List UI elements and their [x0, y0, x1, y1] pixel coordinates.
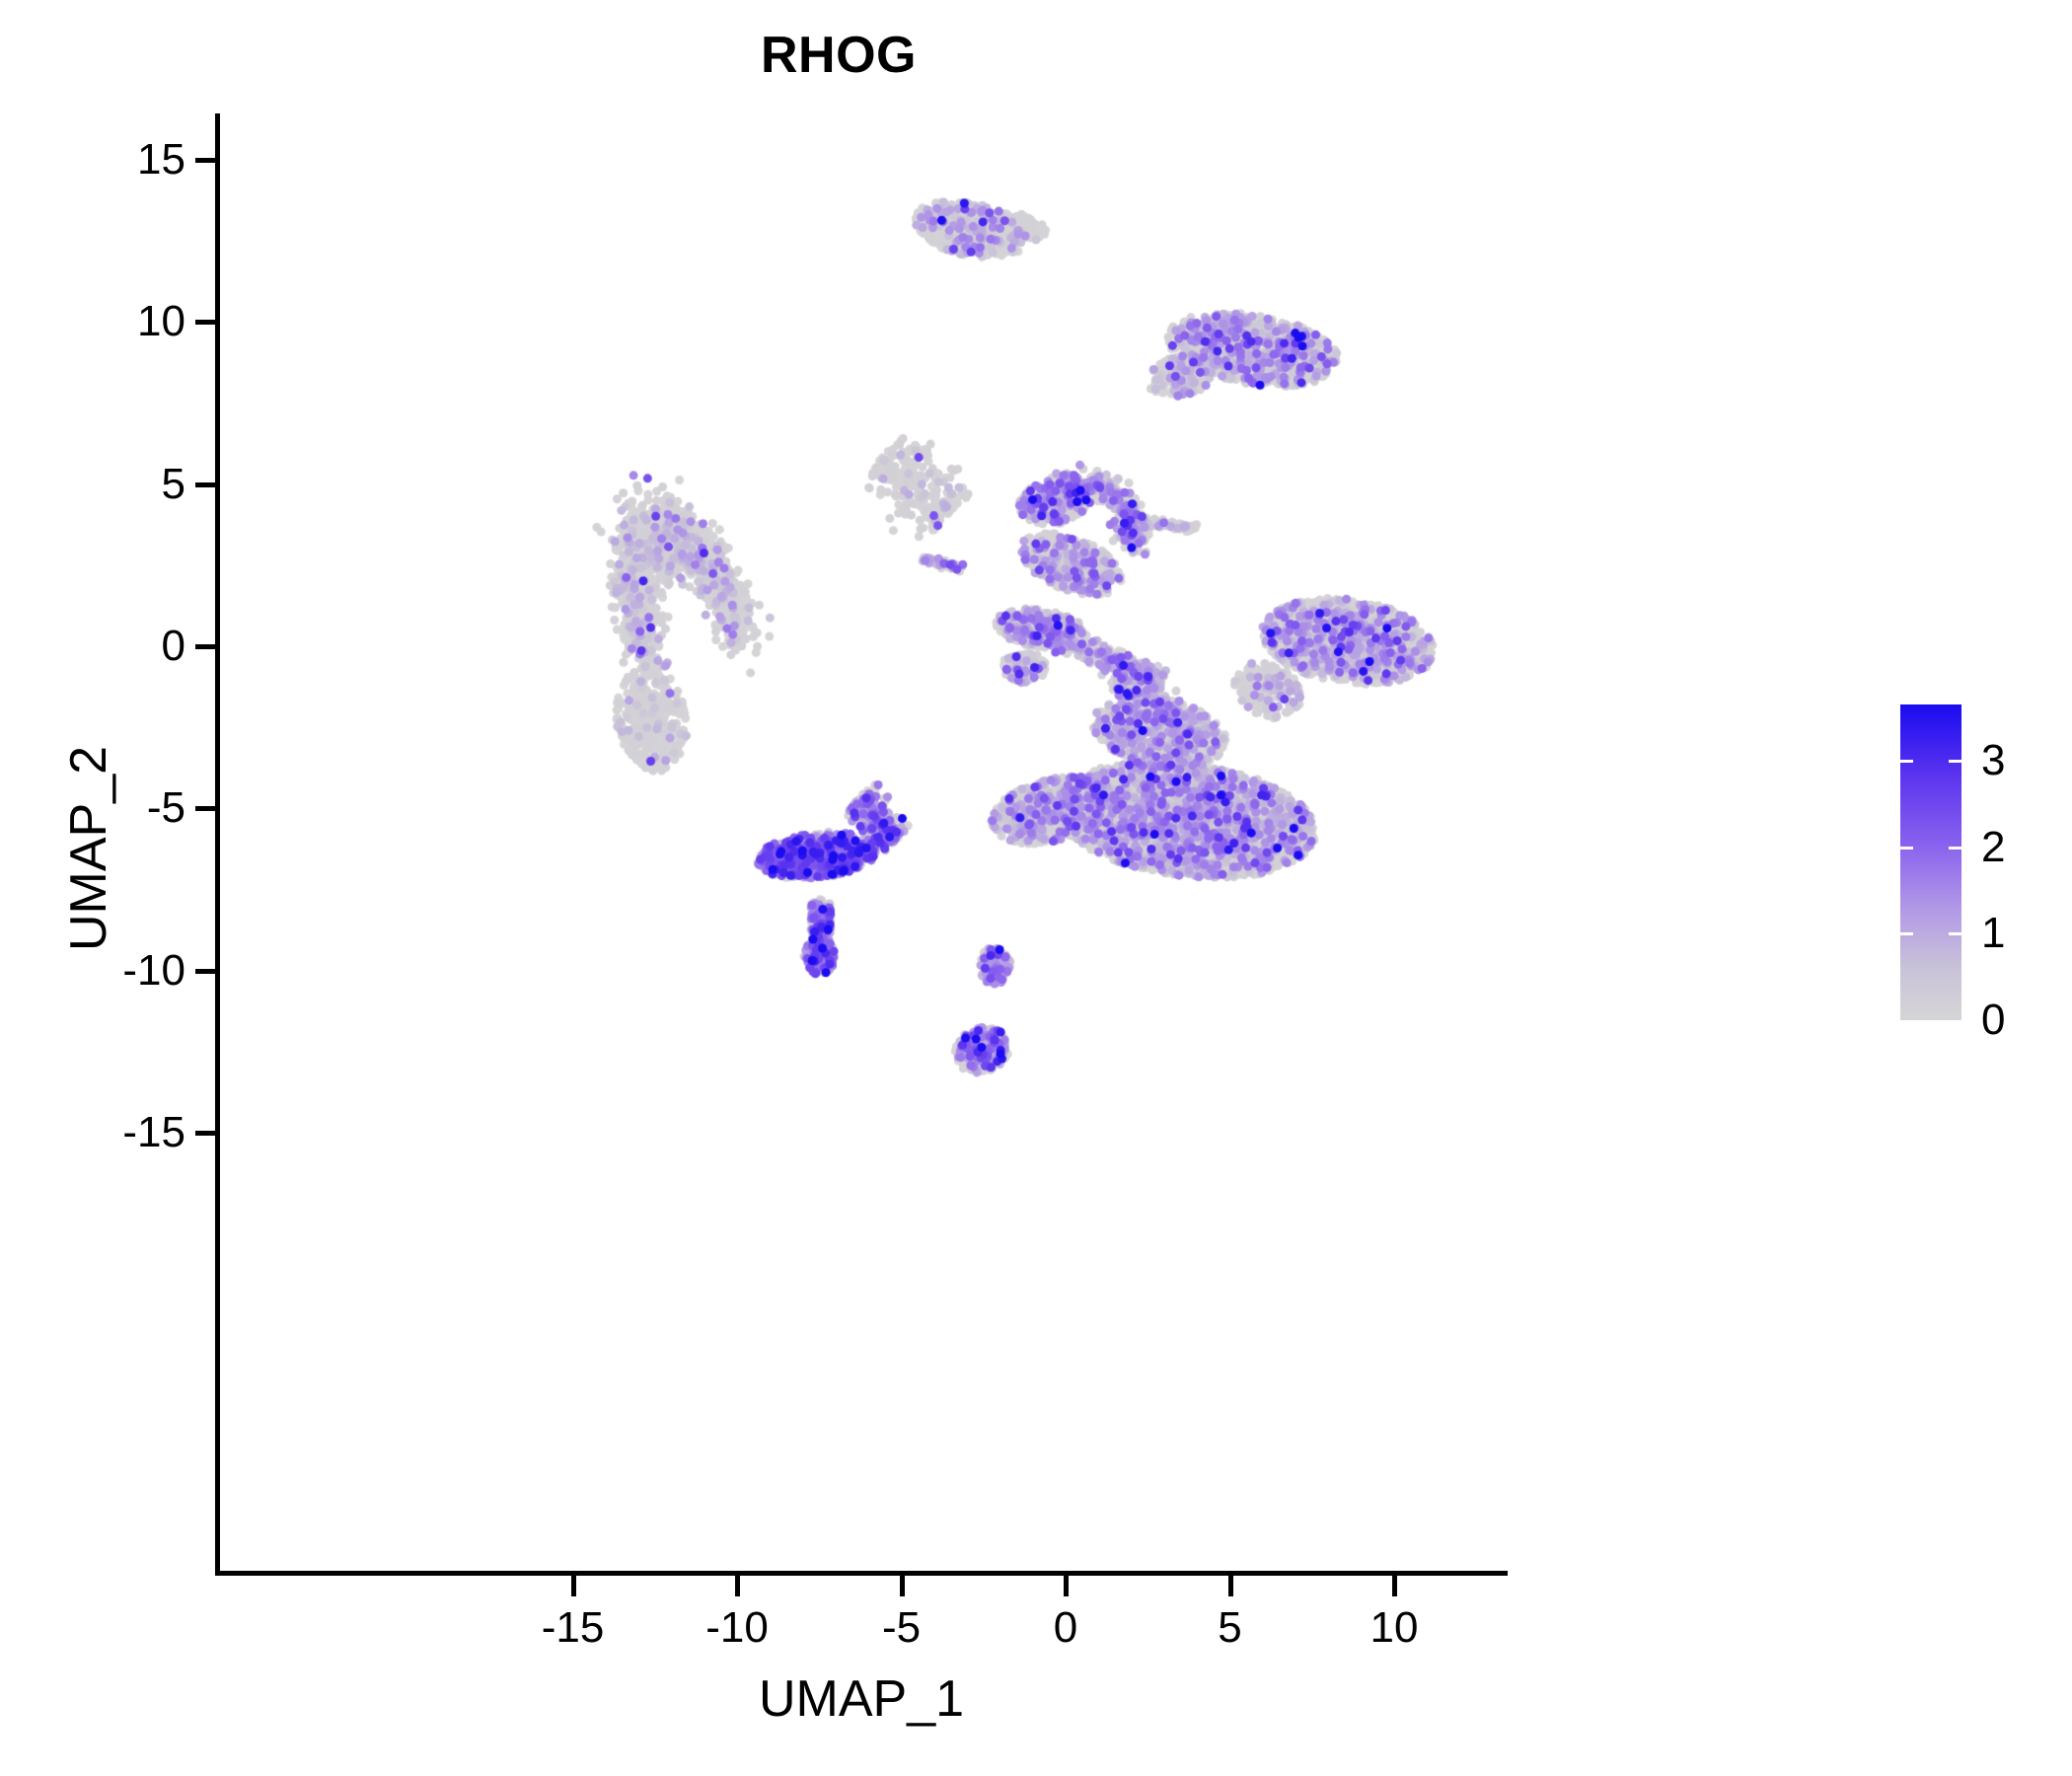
x-axis-label: UMAP_1: [215, 1669, 1508, 1729]
y-tick-mark: [195, 482, 216, 487]
page-title: RHOG: [0, 26, 1677, 85]
y-tick-label: 0: [162, 622, 185, 671]
y-tick-mark: [195, 969, 216, 974]
x-axis-line: [215, 1571, 1508, 1576]
y-axis-line: [215, 113, 220, 1574]
colorbar-tick-mark: [1949, 847, 1961, 850]
colorbar-tick-label: 3: [1981, 736, 2005, 785]
y-tick-mark: [195, 806, 216, 811]
umap-feature-plot: RHOG -15-10-5051015 -15-10-50510 UMAP_1 …: [0, 0, 2072, 1776]
x-tick-label: 5: [1218, 1603, 1241, 1653]
x-tick-mark: [1228, 1576, 1233, 1596]
y-tick-mark: [195, 1131, 216, 1136]
x-tick-label: -5: [882, 1603, 921, 1653]
y-tick-label: -5: [147, 783, 185, 833]
x-tick-label: 10: [1370, 1603, 1419, 1653]
x-tick-mark: [735, 1576, 740, 1596]
colorbar-tick-mark: [1949, 932, 1961, 935]
colorbar-tick-mark: [1900, 932, 1913, 935]
x-tick-label: 0: [1054, 1603, 1077, 1653]
y-tick-mark: [195, 320, 216, 325]
colorbar-legend: 0123: [1900, 704, 1961, 1020]
y-tick-label: -15: [122, 1108, 185, 1157]
y-tick-label: 15: [137, 135, 185, 185]
colorbar-tick-label: 2: [1981, 823, 2005, 872]
y-tick-label: 5: [162, 460, 185, 509]
y-tick-label: -10: [122, 946, 185, 996]
colorbar-tick-mark: [1949, 760, 1961, 763]
x-tick-mark: [571, 1576, 576, 1596]
y-axis-label: UMAP_2: [59, 454, 118, 1243]
y-tick-mark: [195, 644, 216, 649]
y-tick-mark: [195, 158, 216, 163]
colorbar-tick-label: 0: [1981, 996, 2005, 1045]
x-tick-label: -10: [705, 1603, 769, 1653]
scatter-plot-canvas: [0, 0, 2072, 1776]
colorbar-tick-label: 1: [1981, 909, 2005, 958]
x-tick-mark: [1064, 1576, 1069, 1596]
colorbar-gradient: [1900, 704, 1961, 1020]
x-tick-mark: [900, 1576, 905, 1596]
x-tick-mark: [1392, 1576, 1397, 1596]
x-tick-label: -15: [542, 1603, 605, 1653]
colorbar-tick-mark: [1900, 847, 1913, 850]
y-tick-label: 10: [137, 297, 185, 346]
colorbar-tick-mark: [1900, 760, 1913, 763]
